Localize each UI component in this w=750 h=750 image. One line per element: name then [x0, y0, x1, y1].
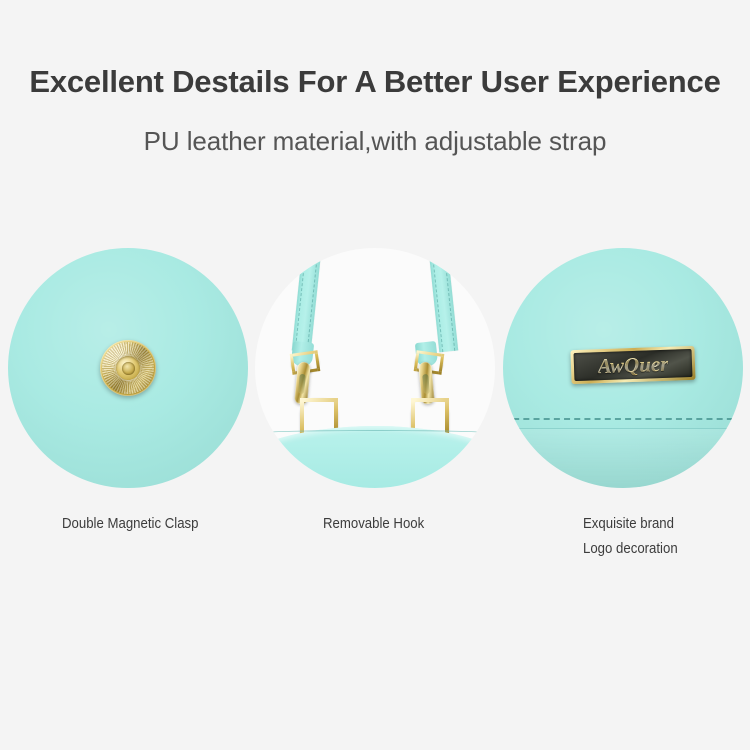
lobster-clasp-left [294, 362, 311, 405]
shoulder-strap-right [428, 248, 458, 352]
page-title: Excellent Destails For A Better User Exp… [0, 64, 750, 100]
snap-center-core [122, 362, 135, 375]
caption-line: Removable Hook [323, 511, 424, 536]
caption-line: Logo decoration [583, 536, 678, 561]
caption-line: Double Magnetic Clasp [62, 511, 198, 536]
leather-stitch-line [503, 418, 743, 420]
strap-stitch-left [295, 248, 307, 351]
bag-top-edge [255, 430, 495, 438]
bag-top-panel [255, 426, 495, 488]
caption-exquisite-brand-logo: Exquisite brand Logo decoration [583, 511, 678, 561]
leather-panel-seam [503, 428, 743, 488]
product-detail-image: Excellent Destails For A Better User Exp… [0, 0, 750, 750]
feature-circle-exquisite-brand-logo: AwQuer [503, 248, 743, 488]
feature-circle-double-magnetic-clasp [8, 248, 248, 488]
snap-inner-ring [116, 356, 140, 380]
strap-stitch-right [307, 248, 319, 352]
page-subtitle: PU leather material,with adjustable stra… [0, 126, 750, 157]
shoulder-strap-left [292, 248, 322, 352]
brand-logo-plate: AwQuer [570, 346, 695, 384]
feature-circle-removable-hook [255, 248, 495, 488]
strap-stitch-right [443, 248, 455, 351]
brand-name-text: AwQuer [597, 353, 668, 376]
bag-stitch-left [266, 443, 281, 488]
caption-line: Exquisite brand [583, 511, 678, 536]
caption-double-magnetic-clasp: Double Magnetic Clasp [62, 511, 198, 536]
brand-plate-inner: AwQuer [574, 349, 693, 381]
magnetic-snap-button-icon [100, 340, 156, 396]
caption-removable-hook: Removable Hook [323, 511, 424, 536]
strap-stitch-left [431, 248, 443, 352]
bag-stitch-right [470, 443, 485, 488]
